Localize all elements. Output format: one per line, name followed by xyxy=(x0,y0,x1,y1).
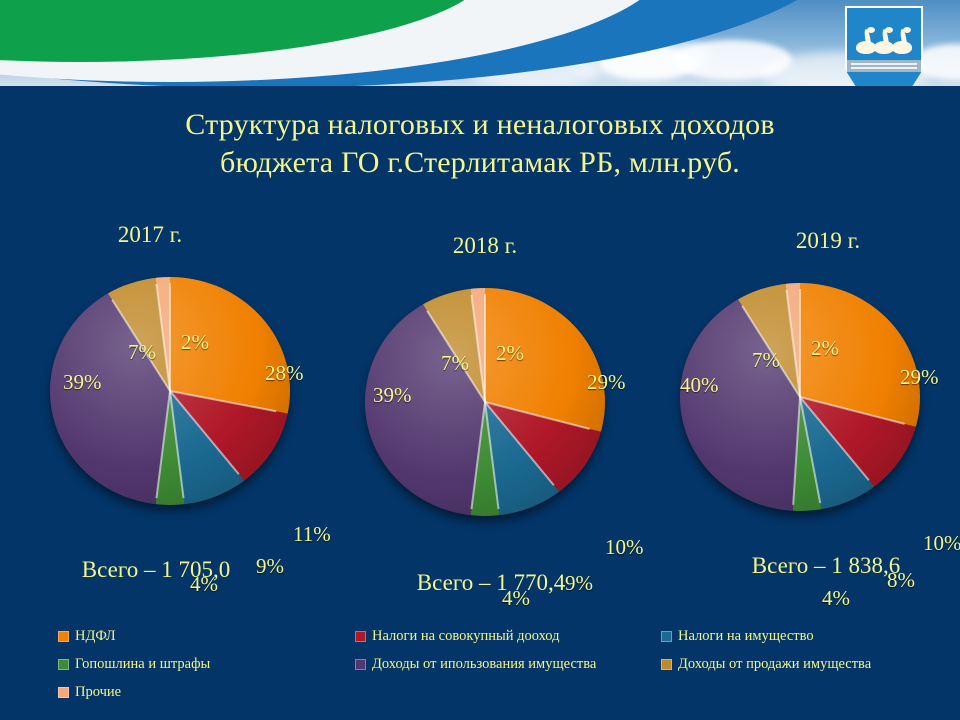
water-band-icon xyxy=(847,60,921,72)
legend-item[interactable]: Налоги на имущество xyxy=(661,628,814,645)
swan-icon xyxy=(874,28,894,54)
legend-label: Доходы от продажи имущества xyxy=(678,656,871,673)
chart-total: Всего – 1 705,0 xyxy=(0,557,316,583)
title-line-1: Структура налоговых и неналоговых доходо… xyxy=(185,108,774,141)
legend-label: Доходы от ипользования имущества xyxy=(372,656,596,673)
chart-legend: НДФЛНалоги на совокупный дооходНалоги на… xyxy=(0,620,960,716)
pie-percentage-label: 39% xyxy=(373,383,412,408)
chart-title: 2019 г. xyxy=(668,228,960,254)
chart-total: Всего – 1 838,6 xyxy=(666,553,960,579)
pie-percentage-label: 29% xyxy=(900,365,939,390)
pie-percentage-label: 28% xyxy=(265,361,304,386)
legend-item[interactable]: Налоги на совокупный дооход xyxy=(355,628,560,645)
legend-color-swatch xyxy=(355,631,366,642)
wave-line-icon xyxy=(851,63,917,65)
legend-label: Прочие xyxy=(75,684,121,701)
chart-title: 2018 г. xyxy=(325,233,645,259)
legend-label: Гопошлина и штрафы xyxy=(75,656,210,673)
slide: Структура налоговых и неналоговых доходо… xyxy=(0,0,960,720)
pie-percentage-label: 29% xyxy=(587,370,626,395)
chart-title: 2017 г. xyxy=(0,222,310,248)
pie-area: 29%10%8%4%40%7%2% xyxy=(680,283,920,523)
pie-percentage-label: 4% xyxy=(822,586,850,611)
pie-percentage-label: 2% xyxy=(496,341,524,366)
pie-percentage-label: 7% xyxy=(441,351,469,376)
legend-color-swatch xyxy=(661,659,672,670)
pie-area: 28%11%9%4%39%7%2% xyxy=(50,277,290,517)
legend-item[interactable]: Доходы от ипользования имущества xyxy=(355,656,596,673)
legend-item[interactable]: НДФЛ xyxy=(58,628,116,645)
legend-item[interactable]: Доходы от продажи имущества xyxy=(661,656,871,673)
legend-color-swatch xyxy=(58,631,69,642)
pie-percentage-label: 40% xyxy=(680,373,719,398)
legend-label: Налоги на совокупный дооход xyxy=(372,628,560,645)
legend-color-swatch xyxy=(58,687,69,698)
banner-base-strip xyxy=(0,86,960,100)
pie-percentage-label: 2% xyxy=(811,336,839,361)
legend-label: НДФЛ xyxy=(75,628,116,645)
swan-icon xyxy=(856,28,876,54)
pie-percentage-label: 2% xyxy=(181,330,209,355)
swan-icon xyxy=(892,28,912,54)
pie-percentage-label: 39% xyxy=(63,370,102,395)
page-title: Структура налоговых и неналоговых доходо… xyxy=(0,106,960,182)
pie-percentage-label: 7% xyxy=(752,348,780,373)
legend-color-swatch xyxy=(58,659,69,670)
legend-color-swatch xyxy=(661,631,672,642)
pie-percentage-label: 11% xyxy=(293,522,331,547)
pie-percentage-label: 7% xyxy=(128,340,156,365)
legend-color-swatch xyxy=(355,659,366,670)
pie-percentage-label: 10% xyxy=(605,535,644,560)
legend-item[interactable]: Гопошлина и штрафы xyxy=(58,656,210,673)
title-line-2: бюджета ГО г.Стерлитамак РБ, млн.руб. xyxy=(0,144,960,182)
legend-item[interactable]: Прочие xyxy=(58,684,121,701)
chart-total: Всего – 1 770,4 xyxy=(331,570,651,596)
header-banner xyxy=(0,0,960,100)
legend-label: Налоги на имущество xyxy=(678,628,814,645)
wave-line-icon xyxy=(851,67,917,69)
pie-area: 29%10%9%4%39%7%2% xyxy=(365,288,605,528)
